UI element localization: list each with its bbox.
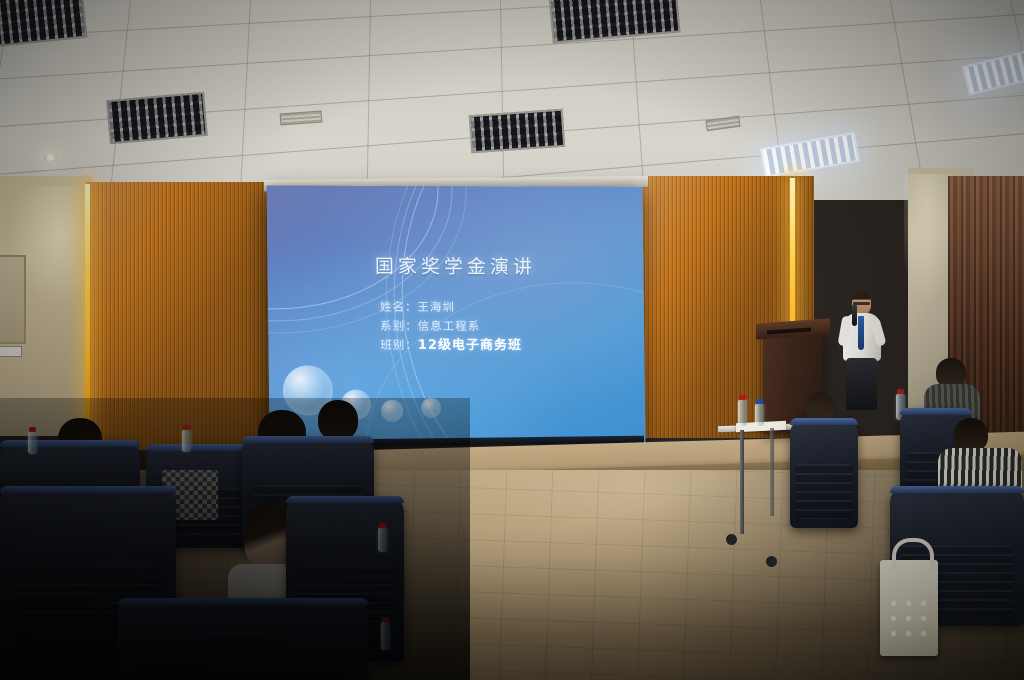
water-bottle-mid-desk bbox=[378, 528, 387, 552]
slide-line-name: 姓名：王海圳 bbox=[380, 298, 522, 317]
water-bottle-front-desk bbox=[381, 622, 390, 650]
seat-judge-front bbox=[790, 418, 858, 528]
ceiling-light-lit-right bbox=[760, 132, 860, 178]
water-bottle-table bbox=[738, 400, 747, 426]
tote-bag bbox=[880, 560, 938, 656]
ceiling-downlight-left bbox=[44, 153, 57, 162]
water-bottle-center-desk bbox=[182, 430, 191, 452]
table-caster-back bbox=[766, 556, 777, 567]
seat-front-center bbox=[118, 598, 368, 680]
ceiling-air-vent-center bbox=[280, 111, 323, 126]
table-caster-front bbox=[726, 534, 737, 545]
water-bottle-table-2 bbox=[755, 404, 764, 426]
ceiling-light-lit-farright bbox=[962, 42, 1024, 95]
presenter-necktie bbox=[858, 316, 864, 350]
presenter-microphone bbox=[852, 304, 857, 326]
ceiling-light-unlit-center bbox=[469, 109, 565, 153]
wall-light-strip-left bbox=[85, 184, 90, 446]
presenter bbox=[838, 292, 894, 414]
slide-detail-lines: 姓名：王海圳 系别：信息工程系 班别：12级电子商务班 bbox=[380, 298, 522, 355]
wall-outlet bbox=[0, 346, 22, 357]
slide-line-department: 系别：信息工程系 bbox=[380, 317, 522, 336]
ceiling bbox=[0, 0, 1024, 200]
table-leg-front bbox=[740, 430, 744, 534]
wall-picture-frame bbox=[0, 255, 26, 344]
ceiling-light-unlit-topleft bbox=[0, 0, 87, 50]
table-leg-back bbox=[770, 428, 774, 516]
presenter-trousers bbox=[846, 358, 877, 410]
wall-slat-panel-left bbox=[86, 182, 274, 450]
lecture-hall-photo: 国家奖学金演讲 姓名：王海圳 系别：信息工程系 班别：12级电子商务班 bbox=[0, 0, 1024, 680]
slide-title: 国家奖学金演讲 bbox=[267, 251, 643, 279]
slide-line-class: 班别：12级电子商务班 bbox=[380, 336, 522, 355]
ceiling-light-unlit-left bbox=[106, 92, 207, 144]
water-bottle-left-desk bbox=[28, 432, 37, 454]
